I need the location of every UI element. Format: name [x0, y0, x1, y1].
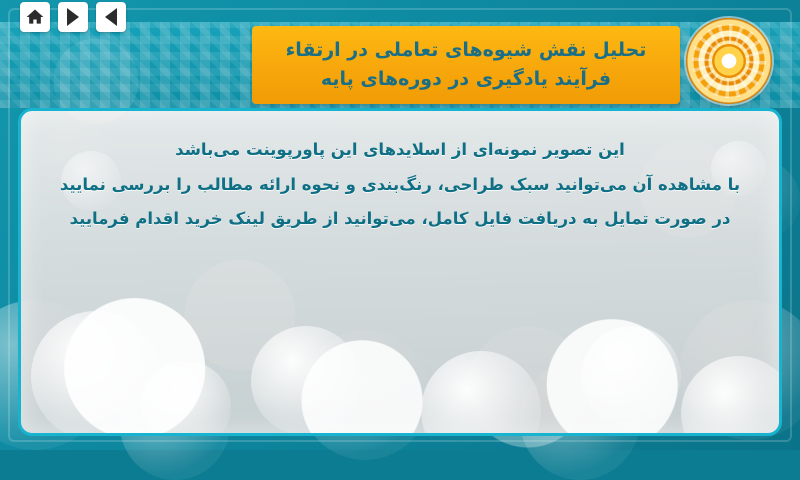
body-line-1: این تصویر نمونه‌ای از اسلایدهای این پاور… [45, 133, 755, 168]
arrow-left-icon [105, 8, 117, 26]
body-line-3: در صورت تمایل به دریافت فایل کامل، می‌تو… [45, 202, 755, 237]
next-slide-button[interactable] [58, 2, 88, 32]
slide-body-text: این تصویر نمونه‌ای از اسلایدهای این پاور… [45, 133, 755, 237]
decorative-bubble [141, 361, 231, 436]
home-icon [25, 7, 45, 27]
decorative-bubble [581, 326, 681, 426]
navigation-toolbar [20, 2, 126, 32]
title-line-1: تحلیل نقش شیوه‌های تعاملی در ارتقاء [286, 36, 647, 65]
ornamental-medallion-icon [686, 18, 772, 104]
previous-slide-button[interactable] [96, 2, 126, 32]
body-line-2: با مشاهده آن می‌توانید سبک طراحی، رنگ‌بن… [45, 168, 755, 203]
decorative-bubble [251, 326, 361, 436]
slide-canvas: تحلیل نقش شیوه‌های تعاملی در ارتقاء فرآی… [0, 0, 800, 450]
arrow-right-icon [67, 8, 79, 26]
decorative-bubble [421, 351, 541, 436]
home-button[interactable] [20, 2, 50, 32]
decorative-bubble [681, 356, 782, 436]
content-card: این تصویر نمونه‌ای از اسلایدهای این پاور… [18, 108, 782, 436]
title-banner: تحلیل نقش شیوه‌های تعاملی در ارتقاء فرآی… [252, 26, 680, 104]
title-line-2: فرآیند یادگیری در دوره‌های پایه [321, 65, 611, 94]
